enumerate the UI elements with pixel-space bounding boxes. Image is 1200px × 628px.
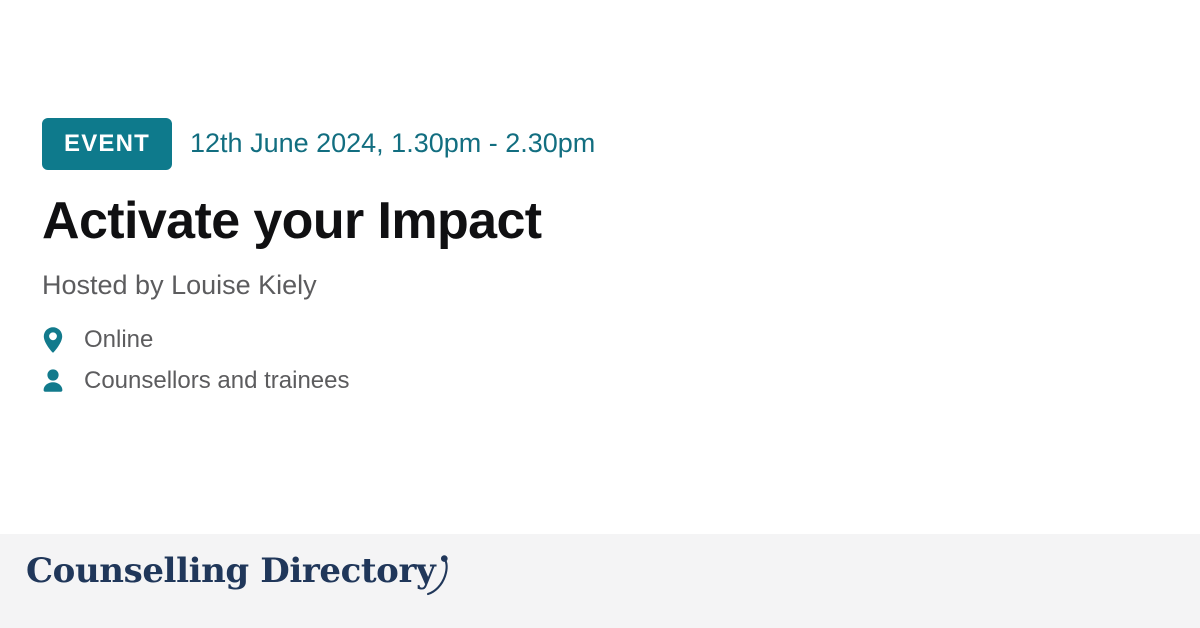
page-footer: Counselling Directory <box>0 534 1200 628</box>
event-detail-location: Online <box>42 326 1142 354</box>
event-detail-audience-label: Counsellors and trainees <box>84 368 350 394</box>
event-host: Hosted by Louise Kiely <box>42 271 1142 301</box>
counselling-directory-logo[interactable]: Counselling Directory <box>26 554 451 594</box>
logo-flourish-icon <box>425 554 451 594</box>
logo-wordmark: Counselling Directory <box>26 554 435 588</box>
event-detail-location-label: Online <box>84 327 153 353</box>
location-pin-icon <box>42 326 68 354</box>
event-type-badge: EVENT <box>42 118 172 170</box>
event-meta-row: EVENT 12th June 2024, 1.30pm - 2.30pm <box>42 118 1142 170</box>
event-card: EVENT 12th June 2024, 1.30pm - 2.30pm Ac… <box>0 0 1200 534</box>
event-detail-audience: Counsellors and trainees <box>42 367 1142 395</box>
event-date: 12th June 2024, 1.30pm - 2.30pm <box>190 129 595 159</box>
event-content: EVENT 12th June 2024, 1.30pm - 2.30pm Ac… <box>42 118 1142 395</box>
event-details-list: Online Counsellors and trainees <box>42 326 1142 395</box>
event-title: Activate your Impact <box>42 194 1142 249</box>
person-icon <box>42 367 68 395</box>
